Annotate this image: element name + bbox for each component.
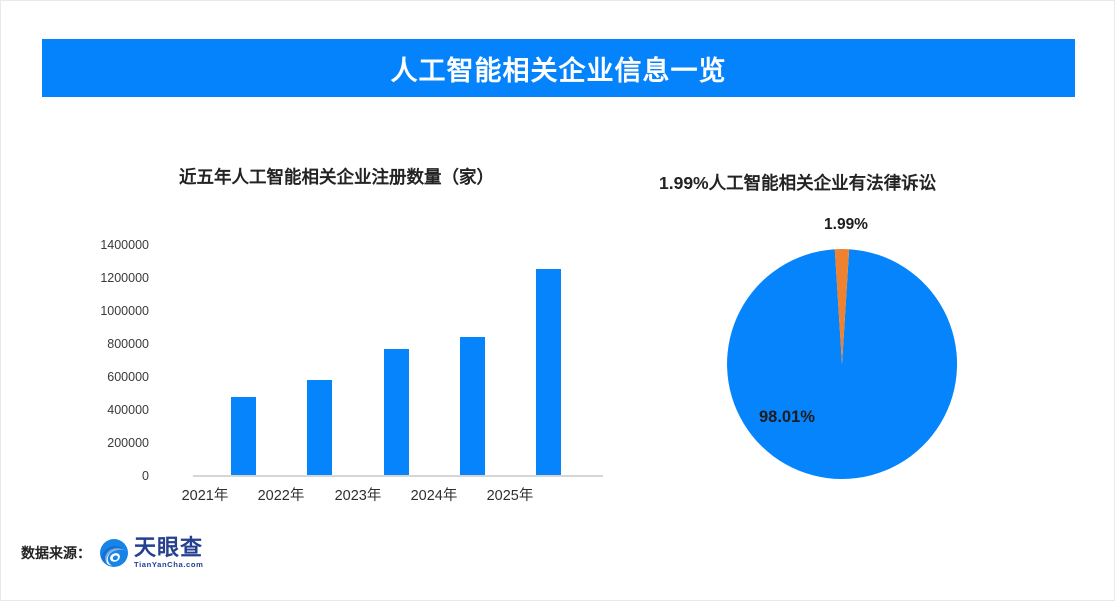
pie-slice-label-minor: 1.99% <box>701 216 991 234</box>
y-axis-tick: 1000000 <box>59 304 149 318</box>
y-axis-tick: 0 <box>59 469 149 483</box>
x-axis-line <box>193 475 603 477</box>
pie-slice-label-major: 98.01% <box>759 408 815 427</box>
x-axis-tick-2025: 2025年 <box>465 484 555 505</box>
y-axis-tick: 600000 <box>59 370 149 384</box>
logo-name: 天眼查 <box>134 537 203 559</box>
tianyancha-logo[interactable]: 天眼查 TianYanCha.com <box>99 537 203 569</box>
bar-2021 <box>231 397 256 475</box>
y-axis-tick: 400000 <box>59 403 149 417</box>
footer-source: 数据来源： 天眼查 TianYanCha.com <box>21 537 203 569</box>
source-label: 数据来源： <box>21 543 91 563</box>
pie-chart-title: 1.99%人工智能相关企业有法律诉讼 <box>659 170 936 195</box>
bar-chart: 1400000 1200000 1000000 800000 600000 40… <box>131 231 611 521</box>
bar-2024 <box>460 337 485 475</box>
logo-text: 天眼查 TianYanCha.com <box>134 537 203 569</box>
bar-chart-title: 近五年人工智能相关企业注册数量（家） <box>179 164 494 189</box>
y-axis-tick: 800000 <box>59 337 149 351</box>
header-banner: 人工智能相关企业信息一览 <box>42 39 1075 97</box>
page-title: 人工智能相关企业信息一览 <box>391 49 727 88</box>
bar-plot-area <box>193 231 603 479</box>
y-axis-tick: 200000 <box>59 436 149 450</box>
tianyancha-eye-icon <box>99 538 129 568</box>
pie-chart: 1.99% 98.01% <box>701 216 991 496</box>
bar-2022 <box>307 380 332 475</box>
y-axis-tick: 1200000 <box>59 271 149 285</box>
infographic-page: 人工智能相关企业信息一览 近五年人工智能相关企业注册数量（家） 1400000 … <box>0 0 1115 601</box>
pie-chart-svg <box>724 246 960 482</box>
bar-2025 <box>536 269 561 475</box>
logo-domain: TianYanCha.com <box>134 561 203 569</box>
y-axis-tick: 1400000 <box>59 238 149 252</box>
bar-2023 <box>384 349 409 475</box>
